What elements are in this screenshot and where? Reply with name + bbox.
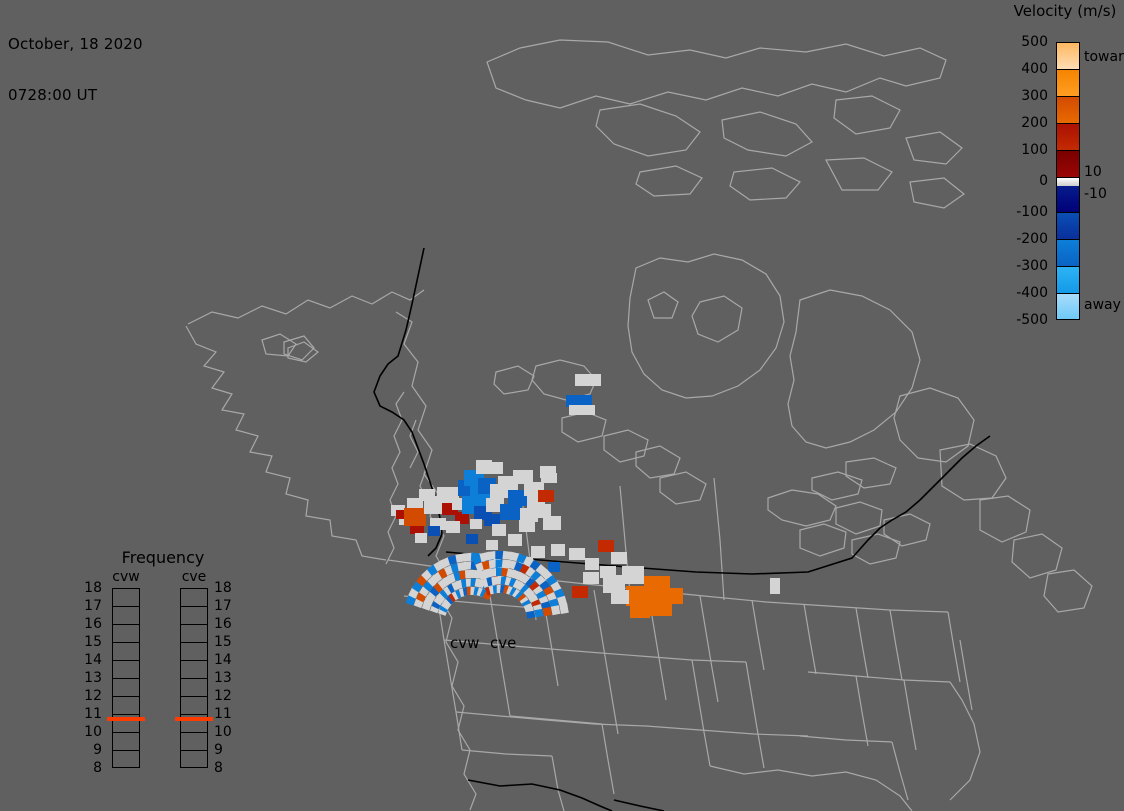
frequency-tick-label-left: 18 [80,581,102,595]
scatter-cell [569,548,585,560]
velocity-toward-label: toward [1084,50,1124,64]
scatter-cell [541,473,557,483]
velocity-tick-label: -100 [1000,205,1048,219]
velocity-band [1057,124,1079,151]
scatter-cell [585,558,599,570]
velocity-band [1057,70,1079,97]
scatter-cell [492,524,506,536]
frequency-segment [113,679,139,697]
scatter-cell [630,604,650,618]
frequency-tick-label-left: 15 [80,635,102,649]
frequency-segment [113,589,139,607]
scatter-cell [489,462,503,474]
velocity-band [1057,97,1079,124]
frequency-segment [113,643,139,661]
radar-beam-cell [559,603,569,614]
frequency-tick-label-right: 16 [214,617,236,631]
scatter-cell [665,588,683,604]
scatter-cell [548,562,560,572]
frequency-segment [181,589,207,607]
velocity-upper-threshold-label: 10 [1084,165,1102,179]
scatter-cell [533,504,551,518]
frequency-tick-label-left: 10 [80,725,102,739]
scatter-cell [470,519,482,529]
scatter-cell [519,520,535,532]
frequency-segment [181,679,207,697]
scatter-cell [622,566,644,584]
velocity-colorbar [1056,42,1080,320]
velocity-tick-label: 500 [1000,35,1048,49]
frequency-segment [181,607,207,625]
frequency-marker-cve [175,717,213,721]
velocity-tick-label: 200 [1000,116,1048,130]
scatter-cell [404,508,426,526]
timestamp-block: October, 18 2020 0728:00 UT [8,2,143,138]
frequency-tick-label-left: 17 [80,599,102,613]
velocity-tick-label: -200 [1000,232,1048,246]
scatter-cell [575,374,601,386]
velocity-band [1057,267,1079,294]
frequency-segment [113,661,139,679]
scatter-cell [500,504,522,520]
scatter-cell [508,534,522,546]
frequency-segment [181,661,207,679]
frequency-segment [181,697,207,715]
frequency-tick-label-left: 12 [80,689,102,703]
radar-site-label-cve: cve [490,634,516,652]
scatter-cell [446,521,460,533]
frequency-segment [181,625,207,643]
radar-site-label-cvw: cvw [450,634,479,652]
frequency-tick-label-right: 12 [214,689,236,703]
scatter-cell [486,540,498,550]
frequency-segment [181,643,207,661]
scatter-cell [428,526,440,536]
velocity-tick-label: 300 [1000,89,1048,103]
scatter-cell [551,544,565,556]
velocity-tick-label: -300 [1000,259,1048,273]
scatter-cell [611,590,629,604]
velocity-tick-label: 400 [1000,62,1048,76]
velocity-colorbar-title: Velocity (m/s) [1002,2,1124,20]
scatter-cell [415,533,427,543]
velocity-band [1057,178,1079,186]
radar-beam-cell [551,605,560,615]
frequency-segment [181,751,207,769]
scatter-cell [538,490,554,502]
frequency-tick-label-right: 10 [214,725,236,739]
scatter-cell [466,534,478,544]
frequency-segment [113,625,139,643]
velocity-band [1057,213,1079,240]
frequency-segment [113,697,139,715]
frequency-tick-label-right: 14 [214,653,236,667]
velocity-tick-label: 100 [1000,143,1048,157]
frequency-segment [113,751,139,769]
frequency-segment [181,733,207,751]
scatter-cell [531,546,545,558]
frequency-tick-label-left: 14 [80,653,102,667]
velocity-colorbar-panel: Velocity (m/s) 5004003002001000-100-200-… [1004,2,1124,332]
velocity-lower-threshold-label: -10 [1084,187,1107,201]
velocity-tick-label: -500 [1000,313,1048,327]
scatter-cell [770,578,780,594]
velocity-band [1057,294,1079,320]
frequency-scale-cvw [112,588,140,768]
scatter-cell [569,405,595,415]
frequency-segment [113,733,139,751]
radar-beam-cell [526,611,535,619]
timestamp-time: 0728:00 UT [8,87,143,104]
frequency-column-label-cvw: cvw [103,569,149,585]
frequency-tick-label-left: 16 [80,617,102,631]
frequency-segment [113,607,139,625]
scatter-cell [598,540,614,552]
frequency-legend-panel: Frequency cvwcve181817171616151514141313… [78,548,248,774]
scatter-cell [583,572,599,584]
radar-map-figure: October, 18 2020 0728:00 UT Velocity (m/… [0,0,1124,811]
frequency-tick-label-left: 9 [80,743,102,757]
velocity-tick-label: 0 [1000,174,1048,188]
frequency-legend-title: Frequency [78,548,248,567]
scatter-cell [572,586,588,598]
velocity-band [1057,240,1079,267]
frequency-tick-label-right: 13 [214,671,236,685]
frequency-marker-cvw [107,717,145,721]
frequency-tick-label-right: 9 [214,743,236,757]
frequency-tick-label-left: 13 [80,671,102,685]
scatter-cell [543,516,561,530]
frequency-column-label-cve: cve [171,569,217,585]
velocity-tick-label: -400 [1000,286,1048,300]
frequency-tick-label-right: 8 [214,761,236,775]
velocity-band [1057,43,1079,70]
frequency-tick-label-right: 11 [214,707,236,721]
velocity-band [1057,186,1079,213]
frequency-tick-label-left: 11 [80,707,102,721]
velocity-band [1057,151,1079,178]
frequency-tick-label-right: 18 [214,581,236,595]
frequency-tick-label-right: 17 [214,599,236,613]
scatter-cell [611,552,627,564]
frequency-tick-label-right: 15 [214,635,236,649]
frequency-tick-label-left: 8 [80,761,102,775]
radar-beam-cell [543,607,552,616]
frequency-scale-cve [180,588,208,768]
scatter-cell [513,470,533,484]
radar-beam-cell [534,609,543,618]
velocity-away-label: away [1084,298,1121,312]
timestamp-date: October, 18 2020 [8,36,143,53]
